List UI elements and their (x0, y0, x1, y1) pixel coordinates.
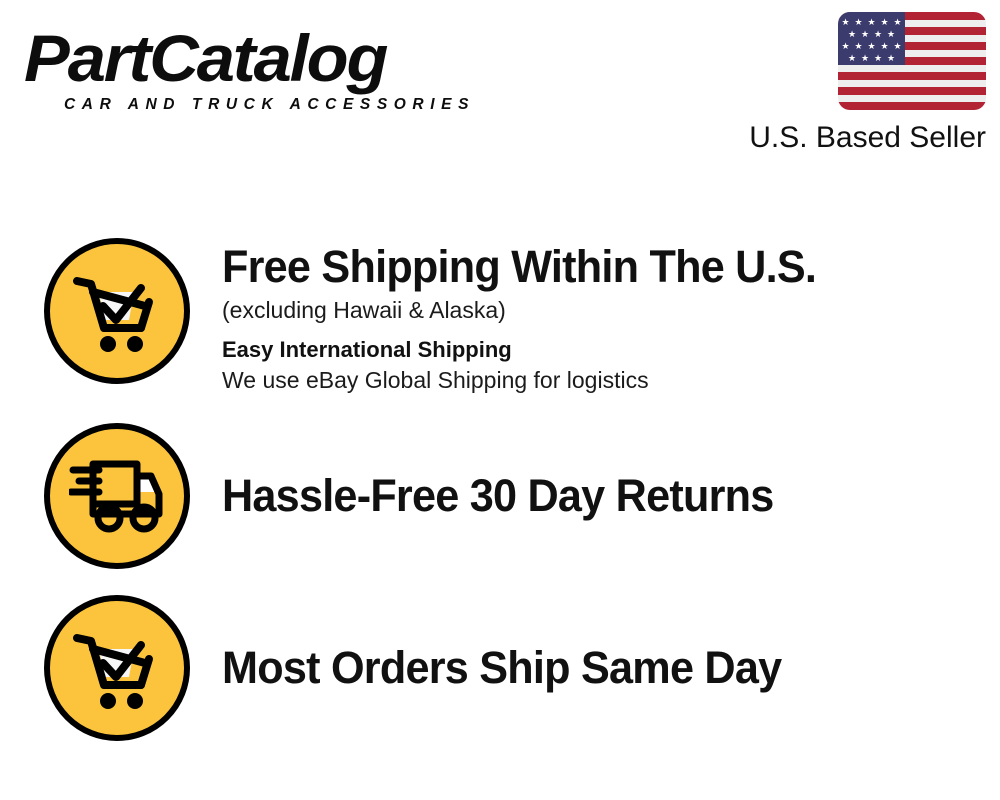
us-flag-icon: ★★★★★ ★★★★ ★★★★★ ★★★★ (838, 12, 986, 110)
feature-text-same-day: Most Orders Ship Same Day (222, 643, 805, 693)
feature-row-returns: Hassle-Free 30 Day Returns (0, 410, 1000, 582)
shopping-cart-check-icon (44, 595, 190, 741)
feature-text-free-shipping: Free Shipping Within The U.S. (excluding… (222, 238, 841, 396)
flag-canton: ★★★★★ ★★★★ ★★★★★ ★★★★ (838, 12, 905, 65)
feature-title: Free Shipping Within The U.S. (222, 242, 816, 292)
delivery-truck-icon (44, 423, 190, 569)
feature-row-same-day: Most Orders Ship Same Day (0, 582, 1000, 754)
logo-tagline: CAR AND TRUCK ACCESSORIES (64, 96, 494, 114)
us-based-seller-label: U.S. Based Seller (686, 121, 986, 155)
brand-logo[interactable]: PartCatalog CAR AND TRUCK ACCESSORIES (24, 22, 494, 114)
shopping-cart-check-icon (44, 238, 190, 384)
feature-secondary-subtitle: We use eBay Global Shipping for logistic… (222, 365, 841, 396)
feature-title: Most Orders Ship Same Day (222, 643, 781, 693)
feature-secondary-title: Easy International Shipping (222, 335, 841, 365)
feature-list: Free Shipping Within The U.S. (excluding… (0, 238, 1000, 754)
feature-text-returns: Hassle-Free 30 Day Returns (222, 471, 796, 521)
feature-title: Hassle-Free 30 Day Returns (222, 471, 774, 521)
feature-subtitle: (excluding Hawaii & Alaska) (222, 294, 841, 326)
us-based-seller-block: ★★★★★ ★★★★ ★★★★★ ★★★★ U.S. Based Seller (686, 12, 986, 155)
header-banner: PartCatalog CAR AND TRUCK ACCESSORIES ★★… (0, 0, 1000, 175)
logo-wordmark: PartCatalog (24, 22, 513, 94)
feature-row-free-shipping: Free Shipping Within The U.S. (excluding… (0, 238, 1000, 410)
